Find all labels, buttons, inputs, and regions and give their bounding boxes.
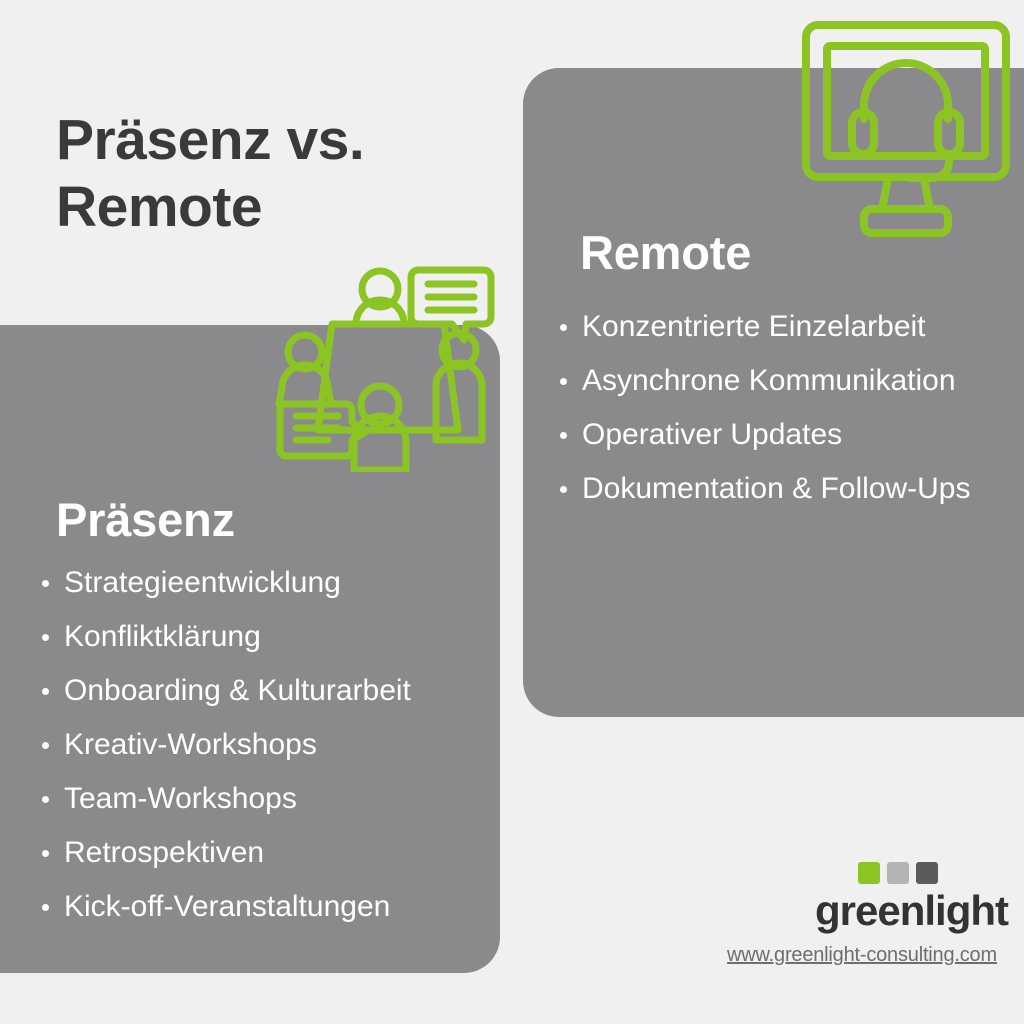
logo-wordmark: greenlight bbox=[716, 890, 1008, 932]
brand-logo: greenlight www.greenlight-consulting.com bbox=[716, 862, 1008, 967]
list-item: Operativer Updates bbox=[552, 408, 1012, 462]
list-item: Strategieentwicklung bbox=[34, 556, 504, 610]
meeting-table-people-icon bbox=[272, 258, 504, 472]
website-url[interactable]: www.greenlight-consulting.com bbox=[716, 944, 1008, 967]
logo-square-dark-gray-icon bbox=[916, 862, 938, 884]
list-item: Asynchrone Kommunikation bbox=[552, 354, 1012, 408]
presenz-heading: Präsenz bbox=[56, 492, 235, 547]
list-item: Onboarding & Kulturarbeit bbox=[34, 664, 504, 718]
list-item: Kick-off-Veranstaltungen bbox=[34, 880, 504, 934]
logo-square-light-gray-icon bbox=[887, 862, 909, 884]
monitor-headset-icon bbox=[800, 18, 1012, 240]
list-item: Dokumentation & Follow-Ups bbox=[552, 462, 1012, 516]
remote-heading: Remote bbox=[580, 225, 751, 280]
presenz-list: Strategieentwicklung Konfliktklärung Onb… bbox=[34, 556, 504, 934]
logo-squares bbox=[788, 862, 1008, 884]
logo-square-green-icon bbox=[858, 862, 880, 884]
infographic-canvas: Präsenz vs. Remote bbox=[0, 0, 1024, 1024]
list-item: Team-Workshops bbox=[34, 772, 504, 826]
page-title: Präsenz vs. Remote bbox=[56, 107, 476, 240]
remote-list: Konzentrierte Einzelarbeit Asynchrone Ko… bbox=[552, 300, 1012, 516]
list-item: Konfliktklärung bbox=[34, 610, 504, 664]
list-item: Konzentrierte Einzelarbeit bbox=[552, 300, 1012, 354]
list-item: Retrospektiven bbox=[34, 826, 504, 880]
list-item: Kreativ-Workshops bbox=[34, 718, 504, 772]
